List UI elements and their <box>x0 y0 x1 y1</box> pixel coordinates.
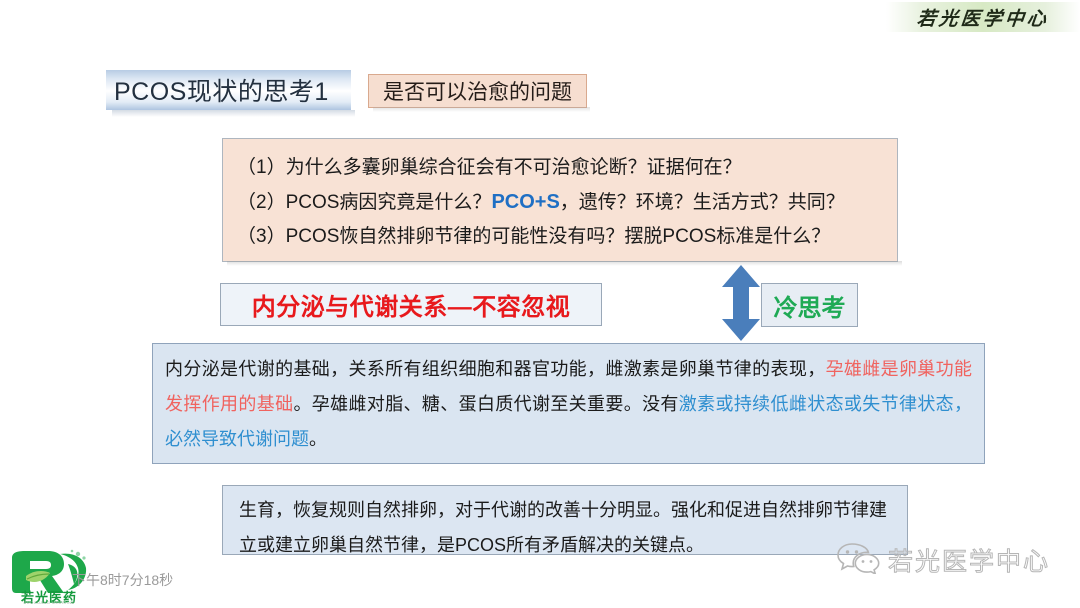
question-text-pre: PCOS病因究竟是什么？ <box>286 192 492 213</box>
question-number: （3） <box>237 226 286 247</box>
conclusion-paragraph: 生育，恢复规则自然排卵，对于代谢的改善十分明显。强化和促进自然排卵节律建立或建立… <box>239 493 891 563</box>
wechat-watermark: 若光医学中心 <box>836 540 1050 579</box>
page-subtitle: 是否可以治愈的问题 <box>383 76 572 106</box>
ruoguang-logo-subcaption: RUOGUANG MEDICINE <box>8 600 90 605</box>
page-title: PCOS现状的思考1 <box>114 72 329 108</box>
page-title-banner: PCOS现状的思考1 <box>106 70 351 110</box>
para-segment-1: 内分泌是代谢的基础，关系所有组织细胞和器官功能，雌激素是卵巢节律的表现， <box>165 359 826 379</box>
brand-bar-label: 若光医学中心 <box>916 4 1051 31</box>
green-callout-box: 冷思考 <box>761 283 858 327</box>
conclusion-panel: 生育，恢复规则自然排卵，对于代谢的改善十分明显。强化和促进自然排卵节律建立或建立… <box>222 485 908 555</box>
question-number: （2） <box>237 192 286 213</box>
slide-canvas: 若光医学中心 PCOS现状的思考1 是否可以治愈的问题 （1）为什么多囊卵巢综合… <box>0 0 1080 608</box>
question-number: （1） <box>237 157 286 178</box>
wechat-icon <box>836 540 882 579</box>
question-item: （1）为什么多囊卵巢综合征会有不可治愈论断？证据何在？ <box>237 151 883 185</box>
question-item: （2）PCOS病因究竟是什么？PCO+S，遗传？环境？生活方式？共同？ <box>237 185 883 220</box>
page-subtitle-box: 是否可以治愈的问题 <box>368 74 587 108</box>
brand-bar: 若光医学中心 <box>886 2 1080 32</box>
double-arrow-vertical-icon <box>718 263 764 343</box>
question-accent-term: PCO+S <box>491 191 559 213</box>
wechat-watermark-label: 若光医学中心 <box>888 542 1050 578</box>
red-headline-box: 内分泌与代谢关系—不容忽视 <box>220 283 602 326</box>
timestamp-label: 下午8时7分18秒 <box>72 570 173 590</box>
red-headline-label: 内分泌与代谢关系—不容忽视 <box>252 287 571 322</box>
para-segment-5: 。 <box>309 429 327 449</box>
green-callout-label: 冷思考 <box>774 288 846 323</box>
endocrine-metabolism-panel: 内分泌是代谢的基础，关系所有组织细胞和器官功能，雌激素是卵巢节律的表现，孕雄雌是… <box>152 343 985 464</box>
question-text-post: ，遗传？环境？生活方式？共同？ <box>560 192 845 213</box>
question-item: （3）PCOS恢自然排卵节律的可能性没有吗？摆脱PCOS标准是什么？ <box>237 220 883 254</box>
para-segment-3: 。孕雄雌对脂、糖、蛋白质代谢至关重要。没有 <box>293 394 678 414</box>
questions-panel: （1）为什么多囊卵巢综合征会有不可治愈论断？证据何在？ （2）PCOS病因究竟是… <box>222 138 898 262</box>
question-text: PCOS恢自然排卵节律的可能性没有吗？摆脱PCOS标准是什么？ <box>286 226 831 247</box>
endocrine-paragraph: 内分泌是代谢的基础，关系所有组织细胞和器官功能，雌激素是卵巢节律的表现，孕雄雌是… <box>165 352 972 457</box>
question-text: 为什么多囊卵巢综合征会有不可治愈论断？证据何在？ <box>286 157 742 178</box>
